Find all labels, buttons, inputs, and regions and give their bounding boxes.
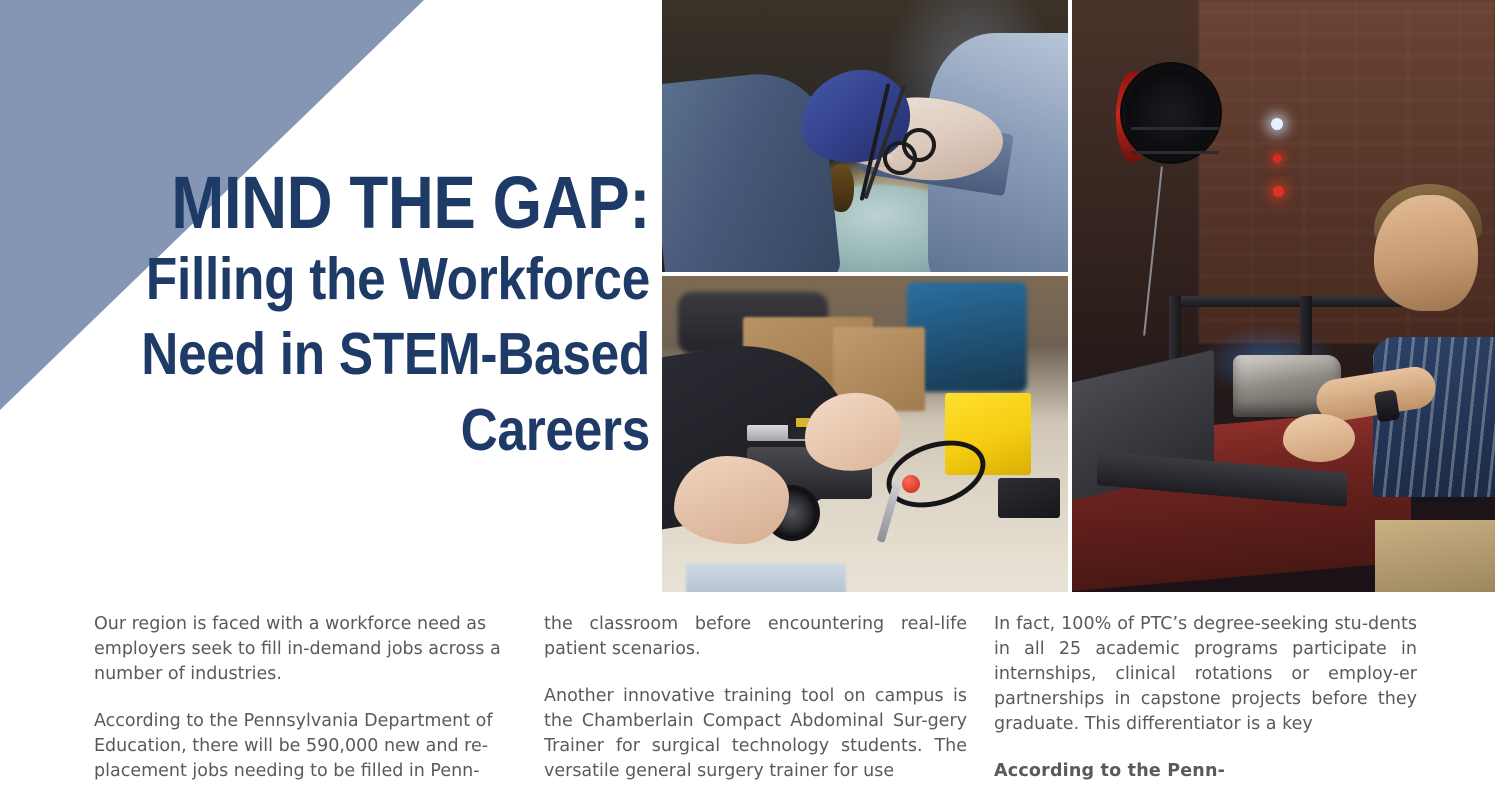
spool-spoke-shape <box>1131 127 1219 130</box>
pull-quote-heading: According to the Penn- <box>994 759 1417 784</box>
filament-spool-shape <box>1123 65 1219 161</box>
headline-line-3: Need in STEM-Based <box>137 317 650 393</box>
student-head-shape <box>1374 195 1478 311</box>
student-trousers-shape <box>1375 520 1495 592</box>
robotics-lab-photo <box>662 276 1068 592</box>
paragraph: the classroom before encountering real-l… <box>544 612 967 662</box>
surgical-technology-photo <box>662 0 1068 272</box>
parts-tray-shape <box>686 563 846 592</box>
article-column-three: In fact, 100% of PTC’s degree-seeking st… <box>994 612 1417 789</box>
hand-shape <box>674 456 789 544</box>
screwdriver-handle-shape <box>902 475 920 493</box>
photo-column-left <box>662 0 1068 592</box>
3d-printing-photo <box>1072 0 1495 592</box>
paragraph: According to the Pennsylvania Department… <box>94 709 517 784</box>
background-light-shape <box>1273 154 1282 163</box>
magazine-page: MIND THE GAP: Filling the Workforce Need… <box>0 0 1495 789</box>
photo-mosaic <box>662 0 1495 592</box>
servo-motor-shape <box>998 478 1060 518</box>
photo-column-right <box>1072 0 1495 592</box>
headline-line-4: Careers <box>137 393 650 469</box>
filament-strand-shape <box>1143 166 1163 335</box>
hero-headline: MIND THE GAP: Filling the Workforce Need… <box>60 168 650 468</box>
article-column-two: the classroom before encountering real-l… <box>544 612 967 789</box>
headline-line-1: MIND THE GAP: <box>143 168 650 238</box>
background-robot-shape <box>907 282 1027 392</box>
paragraph: In fact, 100% of PTC’s degree-seeking st… <box>994 612 1417 737</box>
headline-line-2: Filling the Workforce <box>137 242 650 318</box>
article-body: Our region is faced with a workforce nee… <box>0 612 1495 789</box>
wristwatch-shape <box>1374 389 1400 422</box>
spool-spoke-shape <box>1131 151 1219 154</box>
article-column-one: Our region is faced with a workforce nee… <box>94 612 517 789</box>
paragraph: Another innovative training tool on camp… <box>544 684 967 784</box>
paragraph: Our region is faced with a workforce nee… <box>94 612 517 687</box>
